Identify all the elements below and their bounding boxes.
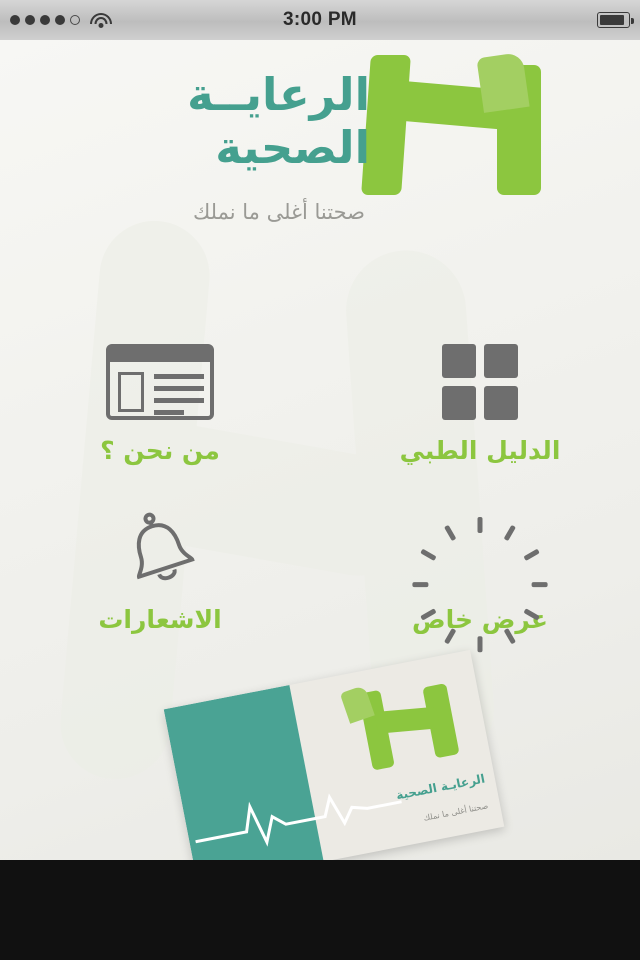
menu-item-notifications[interactable]: الاشعارات (0, 509, 320, 634)
logo-line-2: الصحية (187, 121, 370, 174)
logo-line-1: الرعايــة (187, 68, 370, 121)
bell-icon (118, 509, 202, 593)
menu-item-medical-directory[interactable]: الدليل الطبي (320, 340, 640, 465)
spinner-icon (443, 509, 517, 593)
bottom-black-bar (0, 860, 640, 960)
menu-item-about-us-label: من نحن ؟ (100, 436, 220, 465)
card-logo-tagline: صحتنا أغلى ما نملك (423, 801, 489, 822)
letter-h-logo-icon (360, 55, 545, 195)
spinner-tick (478, 517, 483, 533)
logo-tagline: صحتنا أغلى ما نملك (193, 200, 365, 224)
app-logo: الرعايــة الصحية صحتنا أغلى ما نملك (0, 50, 640, 240)
menu-item-notifications-label: الاشعارات (98, 605, 221, 634)
menu-item-about-us[interactable]: من نحن ؟ (0, 340, 320, 465)
grid-squares-icon (442, 340, 518, 424)
spinner-tick (412, 582, 428, 587)
status-bar-right (320, 12, 630, 28)
status-bar: 3:00 PM (0, 0, 640, 40)
logo-wordmark: الرعايــة الصحية (187, 68, 370, 174)
window-document-icon (106, 340, 214, 424)
spinner-tick (478, 636, 483, 652)
home-page: الرعايــة الصحية صحتنا أغلى ما نملك من ن… (0, 40, 640, 860)
main-menu-grid: من نحن ؟ الدليل الطبي (0, 340, 640, 634)
battery-icon (597, 12, 630, 28)
spinner-tick (532, 582, 548, 587)
menu-item-medical-directory-label: الدليل الطبي (400, 436, 561, 465)
phone-screen: 3:00 PM الرعايــة الصحية (0, 0, 640, 960)
spinner-tick (504, 525, 516, 541)
spinner-tick (420, 549, 436, 561)
bell-icon-svg (118, 511, 202, 591)
spinner-tick (444, 525, 456, 541)
spinner-tick (523, 549, 539, 561)
menu-item-special-offer[interactable]: عرض خاص (320, 509, 640, 634)
